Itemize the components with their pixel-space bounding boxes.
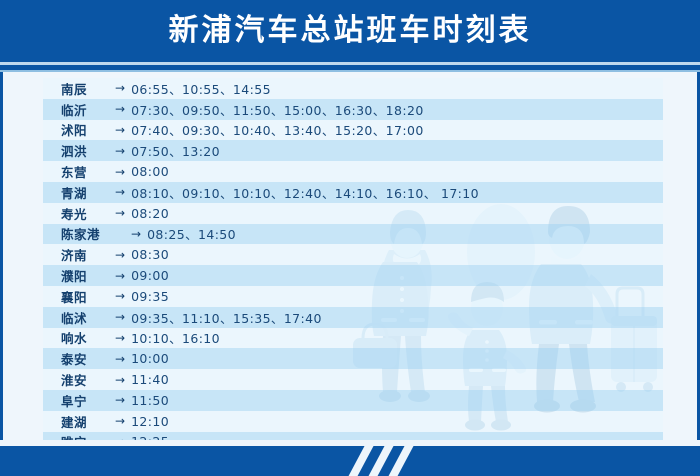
destination-name: 泰安 xyxy=(61,349,113,368)
arrow-icon: → xyxy=(115,81,125,95)
departure-times: 09:35、11:10、15:35、17:40 xyxy=(131,308,322,327)
table-row: 南辰 → 06:55、10:55、14:55 xyxy=(43,78,663,99)
table-row: 襄阳 → 09:35 xyxy=(43,286,663,307)
departure-times: 08:30 xyxy=(131,247,169,262)
timetable: 南辰 → 06:55、10:55、14:55 临沂 → 07:30、09:50、… xyxy=(43,78,663,446)
departure-times: 09:35 xyxy=(131,289,169,304)
destination-name: 青湖 xyxy=(61,183,113,202)
table-row: 濮阳 → 09:00 xyxy=(43,265,663,286)
destination-name: 响水 xyxy=(61,328,113,347)
arrow-icon: → xyxy=(115,373,125,387)
departure-times: 06:55、10:55、14:55 xyxy=(131,79,271,98)
departure-times: 07:50、13:20 xyxy=(131,141,220,160)
table-row: 陈家港 → 08:25、14:50 xyxy=(43,224,663,245)
table-row: 东营 → 08:00 xyxy=(43,161,663,182)
arrow-icon: → xyxy=(131,227,141,241)
destination-name: 濮阳 xyxy=(61,266,113,285)
departure-times: 11:50 xyxy=(131,393,169,408)
destination-name: 阜宁 xyxy=(61,391,113,410)
arrow-icon: → xyxy=(115,269,125,283)
table-row: 淮安 → 11:40 xyxy=(43,369,663,390)
destination-name: 临沂 xyxy=(61,100,113,119)
destination-name: 济南 xyxy=(61,245,113,264)
arrow-icon: → xyxy=(115,310,125,324)
departure-times: 07:40、09:30、10:40、13:40、15:20、17:00 xyxy=(131,120,424,139)
table-row: 阜宁 → 11:50 xyxy=(43,390,663,411)
poster-footer xyxy=(0,446,700,476)
destination-name: 寿光 xyxy=(61,204,113,223)
departure-times: 08:25、14:50 xyxy=(147,224,236,243)
page-title: 新浦汽车总站班车时刻表 xyxy=(169,16,532,46)
destination-name: 襄阳 xyxy=(61,287,113,306)
arrow-icon: → xyxy=(115,102,125,116)
arrow-icon: → xyxy=(115,144,125,158)
arrow-icon: → xyxy=(115,331,125,345)
table-row: 响水 → 10:10、16:10 xyxy=(43,328,663,349)
bus-timetable-poster: 新浦汽车总站班车时刻表 xyxy=(0,0,700,476)
destination-name: 沭阳 xyxy=(61,120,113,139)
arrow-icon: → xyxy=(115,185,125,199)
table-row: 建湖 → 12:10 xyxy=(43,411,663,432)
table-row: 临沭 → 09:35、11:10、15:35、17:40 xyxy=(43,307,663,328)
departure-times: 10:10、16:10 xyxy=(131,328,220,347)
arrow-icon: → xyxy=(115,248,125,262)
arrow-icon: → xyxy=(115,123,125,137)
arrow-icon: → xyxy=(115,165,125,179)
poster-header: 新浦汽车总站班车时刻表 xyxy=(0,0,700,62)
table-row: 寿光 → 08:20 xyxy=(43,203,663,224)
destination-name: 泗洪 xyxy=(61,141,113,160)
table-row: 沭阳 → 07:40、09:30、10:40、13:40、15:20、17:00 xyxy=(43,120,663,141)
table-row: 泰安 → 10:00 xyxy=(43,348,663,369)
destination-name: 陈家港 xyxy=(61,224,129,243)
table-row: 济南 → 08:30 xyxy=(43,244,663,265)
departure-times: 08:00 xyxy=(131,164,169,179)
table-row: 青湖 → 08:10、09:10、10:10、12:40、14:10、16:10… xyxy=(43,182,663,203)
table-row: 泗洪 → 07:50、13:20 xyxy=(43,140,663,161)
destination-name: 东营 xyxy=(61,162,113,181)
timetable-frame: 南辰 → 06:55、10:55、14:55 临沂 → 07:30、09:50、… xyxy=(0,72,700,446)
arrow-icon: → xyxy=(115,206,125,220)
destination-name: 淮安 xyxy=(61,370,113,389)
arrow-icon: → xyxy=(115,289,125,303)
departure-times: 08:20 xyxy=(131,206,169,221)
table-row: 临沂 → 07:30、09:50、11:50、15:00、16:30、18:20 xyxy=(43,99,663,120)
destination-name: 建湖 xyxy=(61,412,113,431)
arrow-icon: → xyxy=(115,352,125,366)
departure-times: 08:10、09:10、10:10、12:40、14:10、16:10、 17:… xyxy=(131,183,479,202)
arrow-icon: → xyxy=(115,414,125,428)
destination-name: 临沭 xyxy=(61,308,113,327)
departure-times: 10:00 xyxy=(131,351,169,366)
departure-times: 07:30、09:50、11:50、15:00、16:30、18:20 xyxy=(131,100,424,119)
departure-times: 11:40 xyxy=(131,372,169,387)
departure-times: 09:00 xyxy=(131,268,169,283)
destination-name: 南辰 xyxy=(61,79,113,98)
arrow-icon: → xyxy=(115,393,125,407)
departure-times: 12:10 xyxy=(131,414,169,429)
